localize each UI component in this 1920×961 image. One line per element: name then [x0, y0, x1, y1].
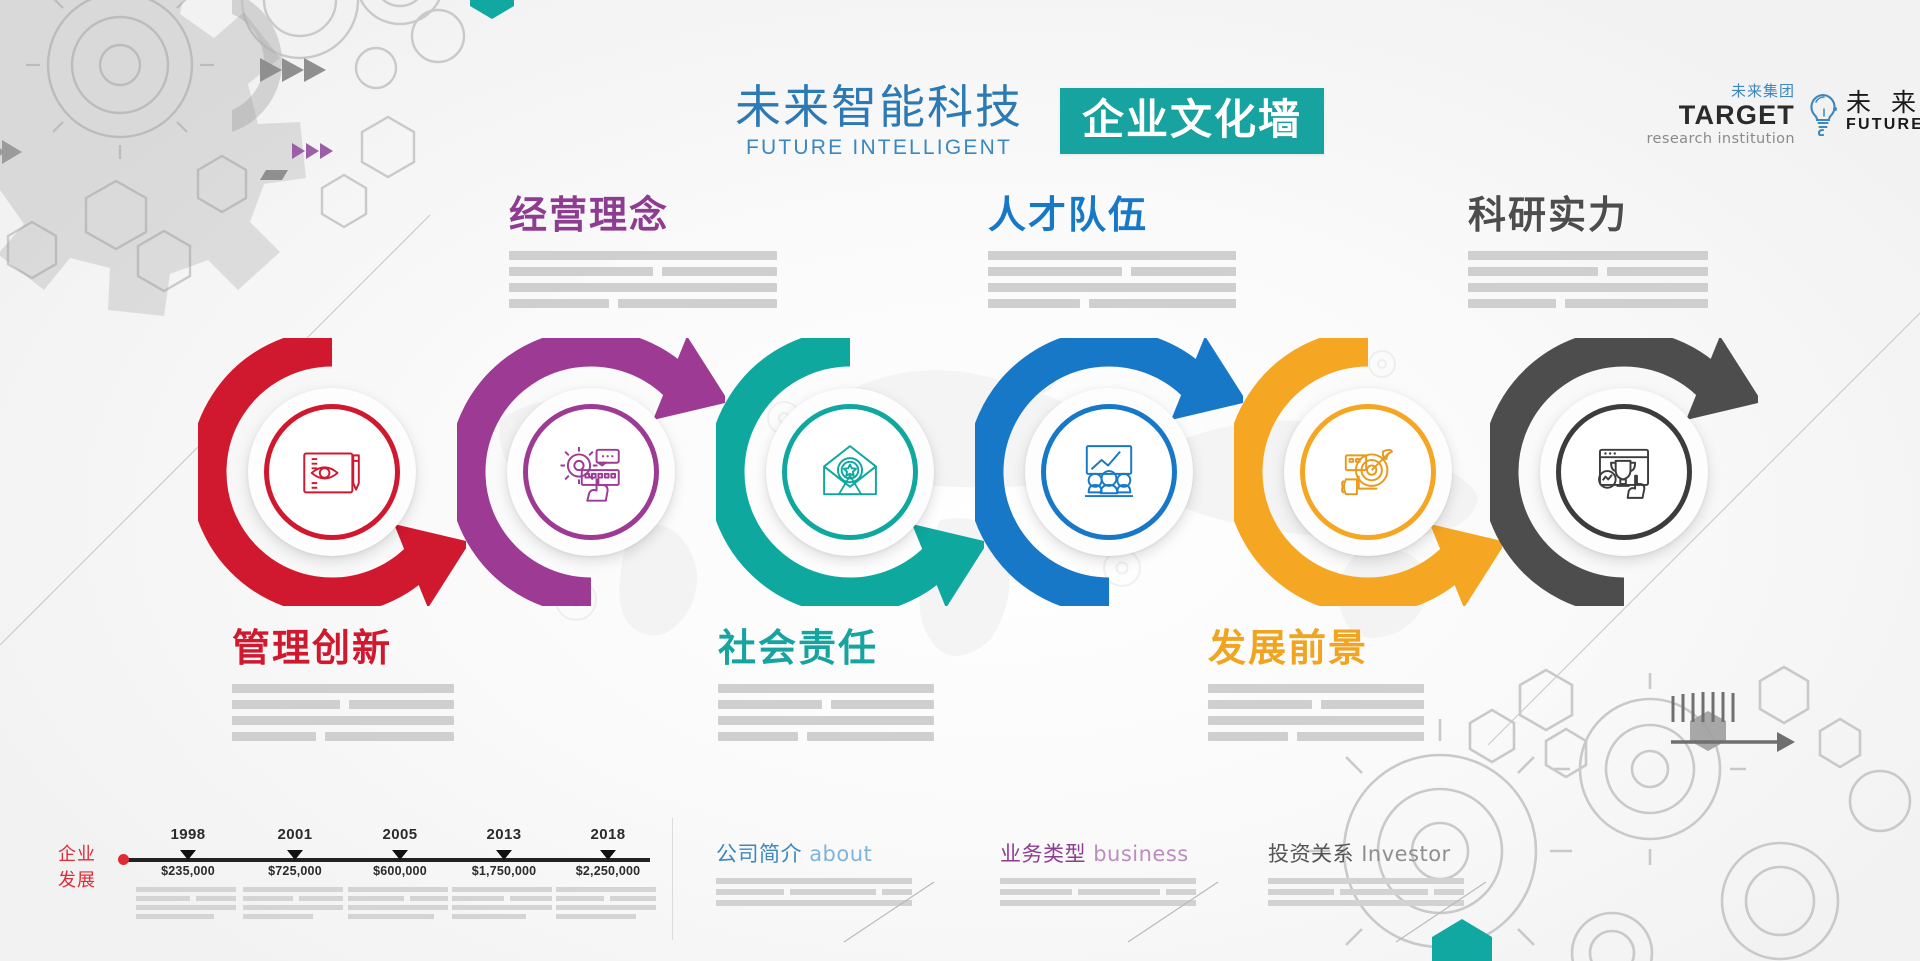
link-label-en: about: [809, 842, 872, 866]
timeline-year: 2001: [243, 826, 347, 843]
section-social-responsibility-label: 社会责任: [718, 628, 1018, 748]
icon-badge: [523, 404, 659, 540]
ring-business-philosophy[interactable]: [457, 338, 725, 606]
timeline-item[interactable]: 2013 $1,750,000: [452, 826, 556, 923]
placeholder-lines: [232, 684, 532, 741]
placeholder-lines: [1208, 684, 1508, 741]
bottom-link-about[interactable]: 公司简介 about: [716, 838, 946, 911]
section-research-strength-label: 科研实力: [1468, 195, 1768, 315]
timeline-label-line2: 发展: [58, 868, 112, 894]
icon-badge: [782, 404, 918, 540]
section-heading: 经营理念: [509, 195, 809, 237]
timeline-item[interactable]: 1998 $235,000: [136, 826, 240, 923]
link-label-en: Investor: [1361, 842, 1451, 866]
section-heading: 科研实力: [1468, 195, 1768, 237]
placeholder-lines: [556, 887, 660, 919]
brand-name-en: FUTURE INTELLIGENT: [735, 136, 1023, 160]
section-development-prospect-label: 发展前景: [1208, 628, 1508, 748]
section-heading: 人才队伍: [988, 195, 1288, 237]
progress-arrow-icon: [1665, 690, 1795, 760]
section-heading: 管理创新: [232, 628, 532, 670]
decorative-slash: [838, 878, 938, 946]
timeline-marker-icon: [287, 850, 303, 860]
page-title: 企业文化墙: [1060, 88, 1324, 154]
logo-name-en: TARGET: [1610, 101, 1795, 129]
timeline-marker-icon: [600, 850, 616, 860]
ring-management-innovation[interactable]: [198, 338, 466, 606]
team-presentation-icon: [1072, 435, 1146, 509]
section-heading: 发展前景: [1208, 628, 1508, 670]
placeholder-lines: [1468, 251, 1768, 308]
ring-development-prospect[interactable]: [1234, 338, 1502, 606]
company-timeline: 企业 发展 1998 $235,000 2001 $725,000: [58, 826, 658, 946]
timeline-divider: [672, 818, 673, 940]
section-heading: 社会责任: [718, 628, 1018, 670]
timeline-value: $600,000: [348, 864, 452, 878]
timeline-value: $1,750,000: [452, 864, 556, 878]
logo-group-cn: 未来集团: [1610, 82, 1795, 100]
timeline-year: 2005: [348, 826, 452, 843]
link-label-en: business: [1093, 842, 1189, 866]
timeline-marker-icon: [180, 850, 196, 860]
gear-keyboard-click-icon: [554, 435, 628, 509]
timeline-year: 2013: [452, 826, 556, 843]
culture-wall-canvas: 未来智能科技 FUTURE INTELLIGENT 企业文化墙 未来集团 TAR…: [0, 0, 1920, 961]
timeline-value: $2,250,000: [556, 864, 660, 878]
decorative-slash: [1390, 878, 1490, 946]
page-header: 未来智能科技 FUTURE INTELLIGENT 企业文化墙 未来集团 TAR…: [0, 40, 1920, 140]
timeline-start-dot: [118, 854, 129, 865]
decorative-slash: [1122, 878, 1222, 946]
timeline-item[interactable]: 2001 $725,000: [243, 826, 347, 923]
ring-social-responsibility[interactable]: [716, 338, 984, 606]
placeholder-lines: [988, 251, 1288, 308]
placeholder-lines: [243, 887, 347, 919]
link-label-cn: 业务类型: [1000, 842, 1086, 866]
company-logo: 未来集团 TARGET research institution 未: [1610, 82, 1910, 172]
placeholder-lines: [348, 887, 452, 919]
process-ring-row: [198, 338, 1758, 628]
placeholder-lines: [452, 887, 556, 919]
timeline-value: $725,000: [243, 864, 347, 878]
timeline-item[interactable]: 2018 $2,250,000: [556, 826, 660, 923]
icon-badge: [1556, 404, 1692, 540]
placeholder-lines: [136, 887, 240, 919]
icon-badge: [264, 404, 400, 540]
timeline-year: 2018: [556, 826, 660, 843]
timeline-label: 企业 发展: [58, 842, 112, 894]
section-business-philosophy-label: 经营理念: [509, 195, 809, 315]
logo-tagline: research institution: [1610, 131, 1795, 147]
ring-research-strength[interactable]: [1490, 338, 1758, 606]
bottom-link-investor[interactable]: 投资关系 Investor: [1268, 838, 1498, 911]
icon-badge: [1300, 404, 1436, 540]
timeline-year: 1998: [136, 826, 240, 843]
timeline-marker-icon: [392, 850, 408, 860]
section-talent-team-label: 人才队伍: [988, 195, 1288, 315]
design-tablet-eye-icon: [295, 435, 369, 509]
lightbulb-icon: [1806, 92, 1840, 136]
ring-talent-team[interactable]: [975, 338, 1243, 606]
icon-badge: [1041, 404, 1177, 540]
target-dart-hand-icon: [1331, 435, 1405, 509]
link-label-cn: 投资关系: [1268, 842, 1354, 866]
page-title-text: 企业文化墙: [1082, 97, 1302, 142]
timeline-label-line1: 企业: [58, 842, 112, 868]
timeline-marker-icon: [496, 850, 512, 860]
section-management-innovation-label: 管理创新: [232, 628, 532, 748]
triple-arrow-icon: [290, 140, 340, 162]
bottom-link-business[interactable]: 业务类型 business: [1000, 838, 1230, 911]
timeline-value: $235,000: [136, 864, 240, 878]
placeholder-lines: [509, 251, 809, 308]
trophy-browser-click-icon: [1587, 435, 1661, 509]
link-label-cn: 公司简介: [716, 842, 802, 866]
brand-name-cn: 未来智能科技: [735, 84, 1023, 130]
brand-block: 未来智能科技 FUTURE INTELLIGENT: [735, 84, 1023, 160]
certificate-envelope-icon: [813, 435, 887, 509]
placeholder-lines: [718, 684, 1018, 741]
logo-mark-cn: 未 来: [1846, 90, 1920, 116]
timeline-item[interactable]: 2005 $600,000: [348, 826, 452, 923]
logo-mark-en: FUTURE: [1846, 116, 1920, 134]
